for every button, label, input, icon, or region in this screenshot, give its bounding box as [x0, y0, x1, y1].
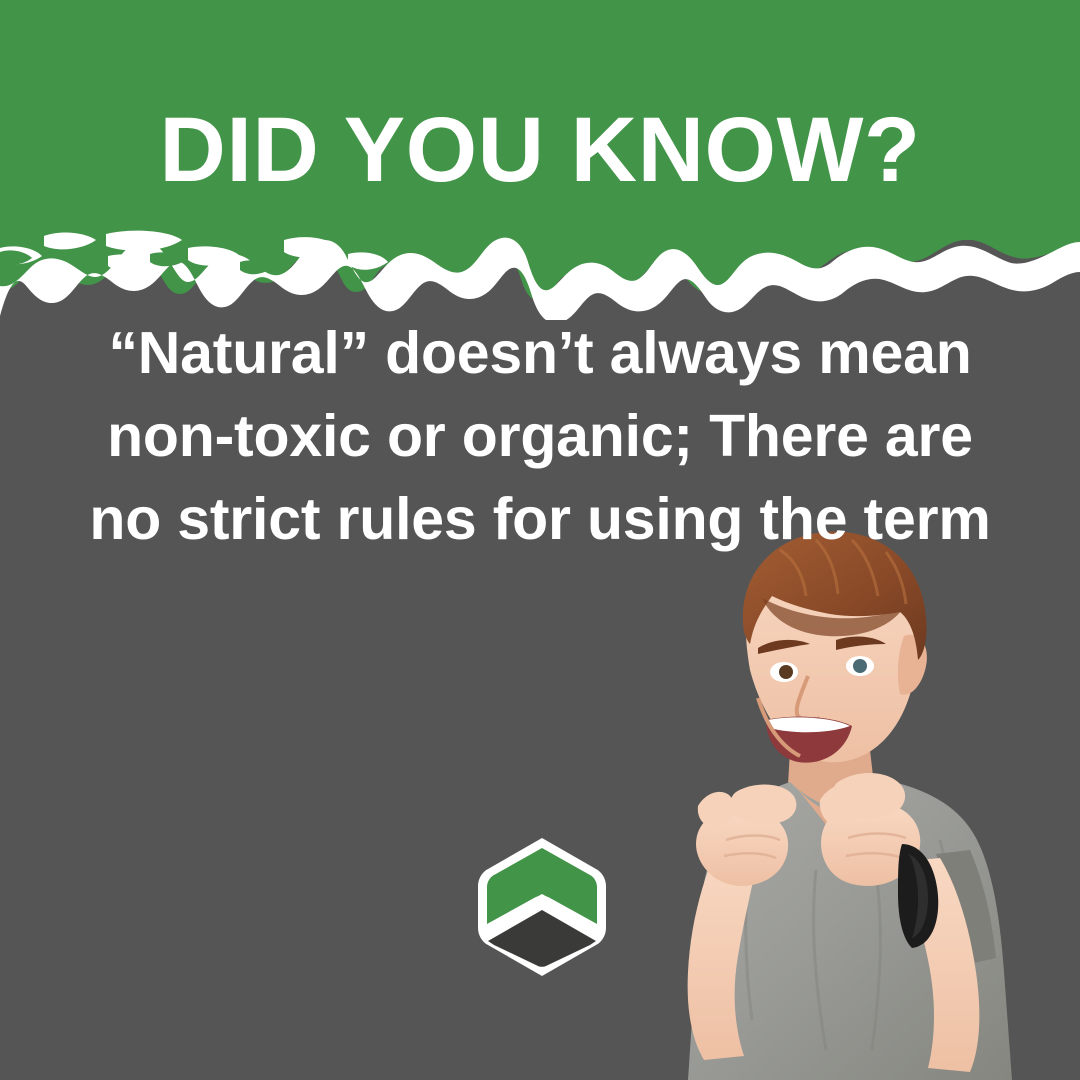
body-copy: “Natural” doesn’t always mean non-toxic … — [40, 312, 1040, 561]
poster-canvas: DID YOU KNOW? “Natural” doesn’t always m… — [0, 0, 1080, 1080]
body-line-1: “Natural” doesn’t always mean — [40, 312, 1040, 395]
person-photo — [640, 520, 1080, 1080]
page-title: DID YOU KNOW? — [0, 104, 1080, 196]
body-line-3: no strict rules for using the term — [40, 478, 1040, 561]
hexagon-chevron-logo — [478, 838, 606, 976]
person-finger-left-index — [730, 785, 796, 825]
body-line-2: non-toxic or organic; There are — [40, 395, 1040, 478]
